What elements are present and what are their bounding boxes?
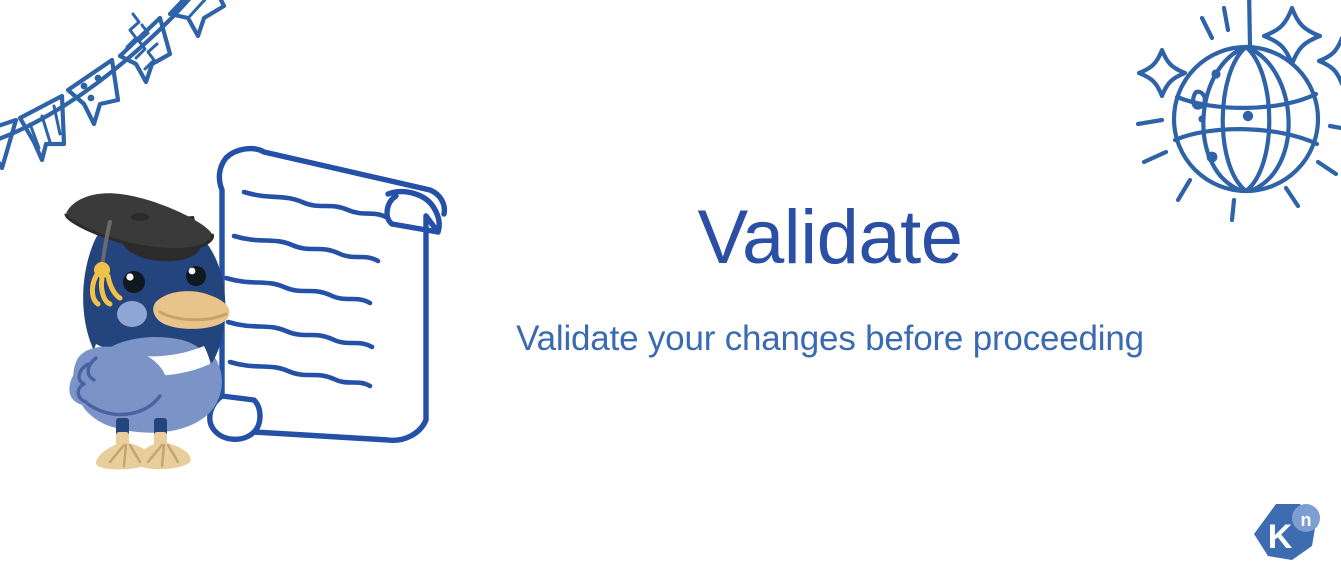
logo-letter-n: n bbox=[1301, 510, 1312, 530]
scroll-text-lines bbox=[226, 192, 388, 386]
title-block: Validate Validate your changes before pr… bbox=[460, 200, 1200, 359]
graduate-bird-with-scroll-illustration bbox=[48, 132, 468, 472]
bird-eye-right bbox=[186, 266, 206, 286]
kn-brand-logo: K n bbox=[1252, 502, 1324, 564]
page-title: Validate bbox=[460, 200, 1200, 276]
bird-mascot bbox=[66, 193, 230, 469]
bird-eye-left bbox=[123, 271, 145, 293]
disco-ball-icon bbox=[1124, 0, 1341, 226]
logo-letter-k: K bbox=[1268, 518, 1293, 556]
page-subtitle: Validate your changes before proceeding bbox=[460, 276, 1200, 359]
bird-cheek-left bbox=[117, 301, 147, 327]
slide-canvas: Validate Validate your changes before pr… bbox=[0, 0, 1341, 585]
